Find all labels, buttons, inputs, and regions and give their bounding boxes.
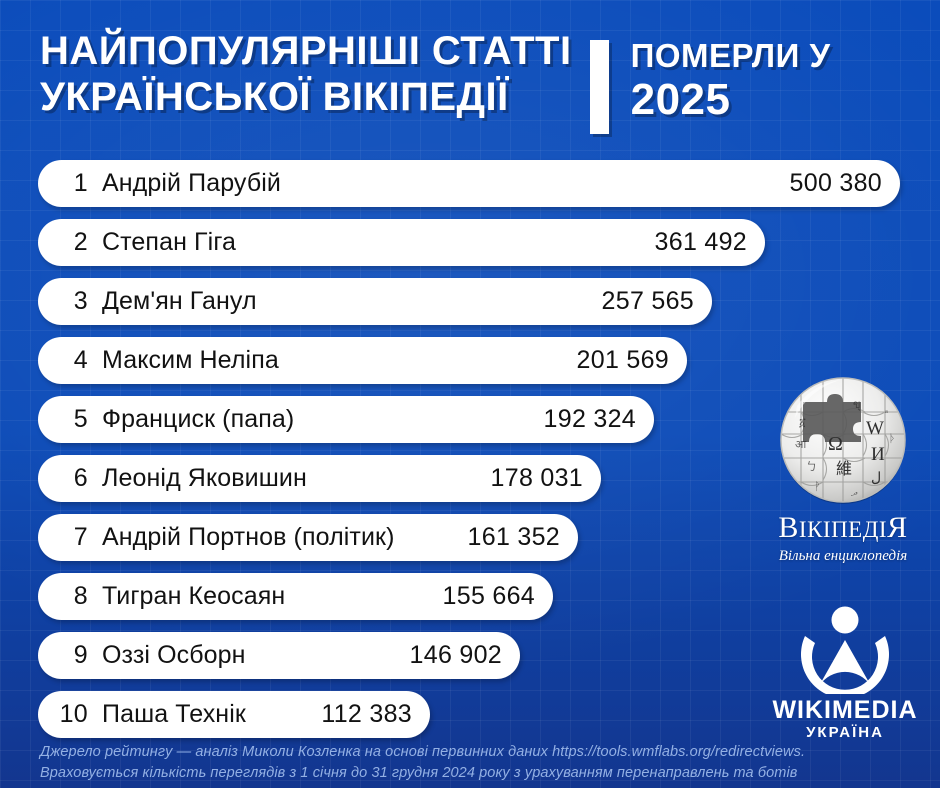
row-view-count: 155 664 (427, 582, 535, 611)
row-article-title: Леонід Яковишин (102, 464, 307, 493)
row-article-title: Франциск (папа) (102, 405, 294, 434)
ranking-row: 8Тигран Кеосаян155 664 (38, 573, 553, 620)
row-article-title: Степан Гіга (102, 228, 236, 257)
ranking-row: 10Паша Технік112 383 (38, 691, 430, 738)
row-rank: 3 (54, 287, 88, 316)
wikimedia-chapter-label: УКРАЇНА (760, 724, 930, 741)
svg-text:आ: आ (795, 439, 807, 451)
row-article-title: Максим Неліпа (102, 346, 279, 375)
footer-source-line: Джерело рейтингу — аналіз Миколи Козленк… (40, 742, 920, 763)
page-title: НАЙПОПУЛЯРНІШІ СТАТТІ УКРАЇНСЬКОЇ ВІКІПЕ… (40, 28, 572, 120)
poster-header: НАЙПОПУЛЯРНІШІ СТАТТІ УКРАЇНСЬКОЇ ВІКІПЕ… (40, 28, 830, 134)
row-rank: 10 (54, 700, 88, 729)
svg-text:ᚦ: ᚦ (889, 433, 896, 445)
row-view-count: 500 380 (774, 169, 882, 198)
ranking-row: 5Франциск (папа)192 324 (38, 396, 654, 443)
row-view-count: 146 902 (394, 641, 502, 670)
row-rank: 9 (54, 641, 88, 670)
row-rank: 8 (54, 582, 88, 611)
svg-text:維: 維 (836, 460, 852, 478)
ranking-row: 1Андрій Парубій500 380 (38, 160, 900, 207)
wikipedia-tagline: Вільна енциклопедія (752, 547, 934, 565)
row-view-count: 201 569 (561, 346, 669, 375)
ranking-row: 2Степан Гіга361 492 (38, 219, 765, 266)
ranking-row: 3Дем'ян Ганул257 565 (38, 278, 712, 325)
header-subtitle: ПОМЕРЛИ У (631, 36, 831, 76)
row-rank: 5 (54, 405, 88, 434)
row-article-title: Андрій Портнов (політик) (102, 523, 395, 552)
svg-text:ᚹ: ᚹ (814, 481, 821, 493)
footer-method-line: Враховується кількість переглядів з 1 сі… (40, 763, 920, 784)
svg-text:Ω: Ω (828, 433, 843, 455)
row-rank: 4 (54, 346, 88, 375)
row-article-title: Оззі Осборн (102, 641, 246, 670)
row-rank: 1 (54, 169, 88, 198)
row-article-title: Тигран Кеосаян (102, 582, 285, 611)
svg-text:ขุ: ขุ (853, 399, 861, 411)
ranking-row: 7Андрій Портнов (політик)161 352 (38, 514, 578, 561)
row-view-count: 161 352 (452, 523, 560, 552)
wikipedia-wordmark-prefix: В (778, 511, 799, 544)
svg-text:ㄅ: ㄅ (806, 460, 817, 473)
row-view-count: 178 031 (475, 464, 583, 493)
svg-text:፩: ፩ (799, 417, 806, 429)
row-rank: 2 (54, 228, 88, 257)
wikipedia-wordmark: ВІКІПЕДІЯ (752, 512, 934, 546)
wikipedia-wordmark-middle: ІКІПЕДІ (799, 517, 887, 542)
row-view-count: 192 324 (528, 405, 636, 434)
wikipedia-puzzle-globe-icon: Ω W И 維 ل ፩ आ ㄅ ᚹ ދ ᚦ ขุ ₐ (767, 372, 919, 510)
svg-text:W: W (866, 418, 884, 439)
ranking-row: 9Оззі Осборн146 902 (38, 632, 520, 679)
footer-note: Джерело рейтингу — аналіз Миколи Козленк… (40, 742, 920, 784)
svg-text:ދ: ދ (851, 487, 858, 499)
svg-text:ₐ: ₐ (885, 403, 888, 415)
header-year: 2025 (631, 76, 831, 124)
svg-text:ل: ل (871, 471, 881, 486)
wikimedia-foundation-icon (789, 606, 901, 694)
row-article-title: Андрій Парубій (102, 169, 281, 198)
row-article-title: Дем'ян Ганул (102, 287, 257, 316)
wikimedia-ukraine-logo: WIKIMEDIA УКРАЇНА (760, 606, 930, 741)
wikipedia-wordmark-suffix: Я (887, 511, 908, 544)
ranking-row: 6Леонід Яковишин178 031 (38, 455, 601, 502)
ranking-row: 4Максим Неліпа201 569 (38, 337, 687, 384)
row-article-title: Паша Технік (102, 700, 246, 729)
infographic-poster: НАЙПОПУЛЯРНІШІ СТАТТІ УКРАЇНСЬКОЇ ВІКІПЕ… (0, 0, 940, 788)
svg-text:И: И (871, 444, 885, 465)
wikimedia-wordmark: WIKIMEDIA (760, 697, 930, 724)
title-divider-bar (590, 40, 609, 134)
header-right-block: ПОМЕРЛИ У 2025 (631, 36, 831, 124)
row-view-count: 361 492 (639, 228, 747, 257)
row-view-count: 257 565 (586, 287, 694, 316)
row-rank: 7 (54, 523, 88, 552)
row-view-count: 112 383 (305, 700, 412, 729)
wikipedia-logo: Ω W И 維 ل ፩ आ ㄅ ᚹ ދ ᚦ ขุ ₐ ВІКІПЕДІЯ Віл… (752, 372, 934, 565)
row-rank: 6 (54, 464, 88, 493)
